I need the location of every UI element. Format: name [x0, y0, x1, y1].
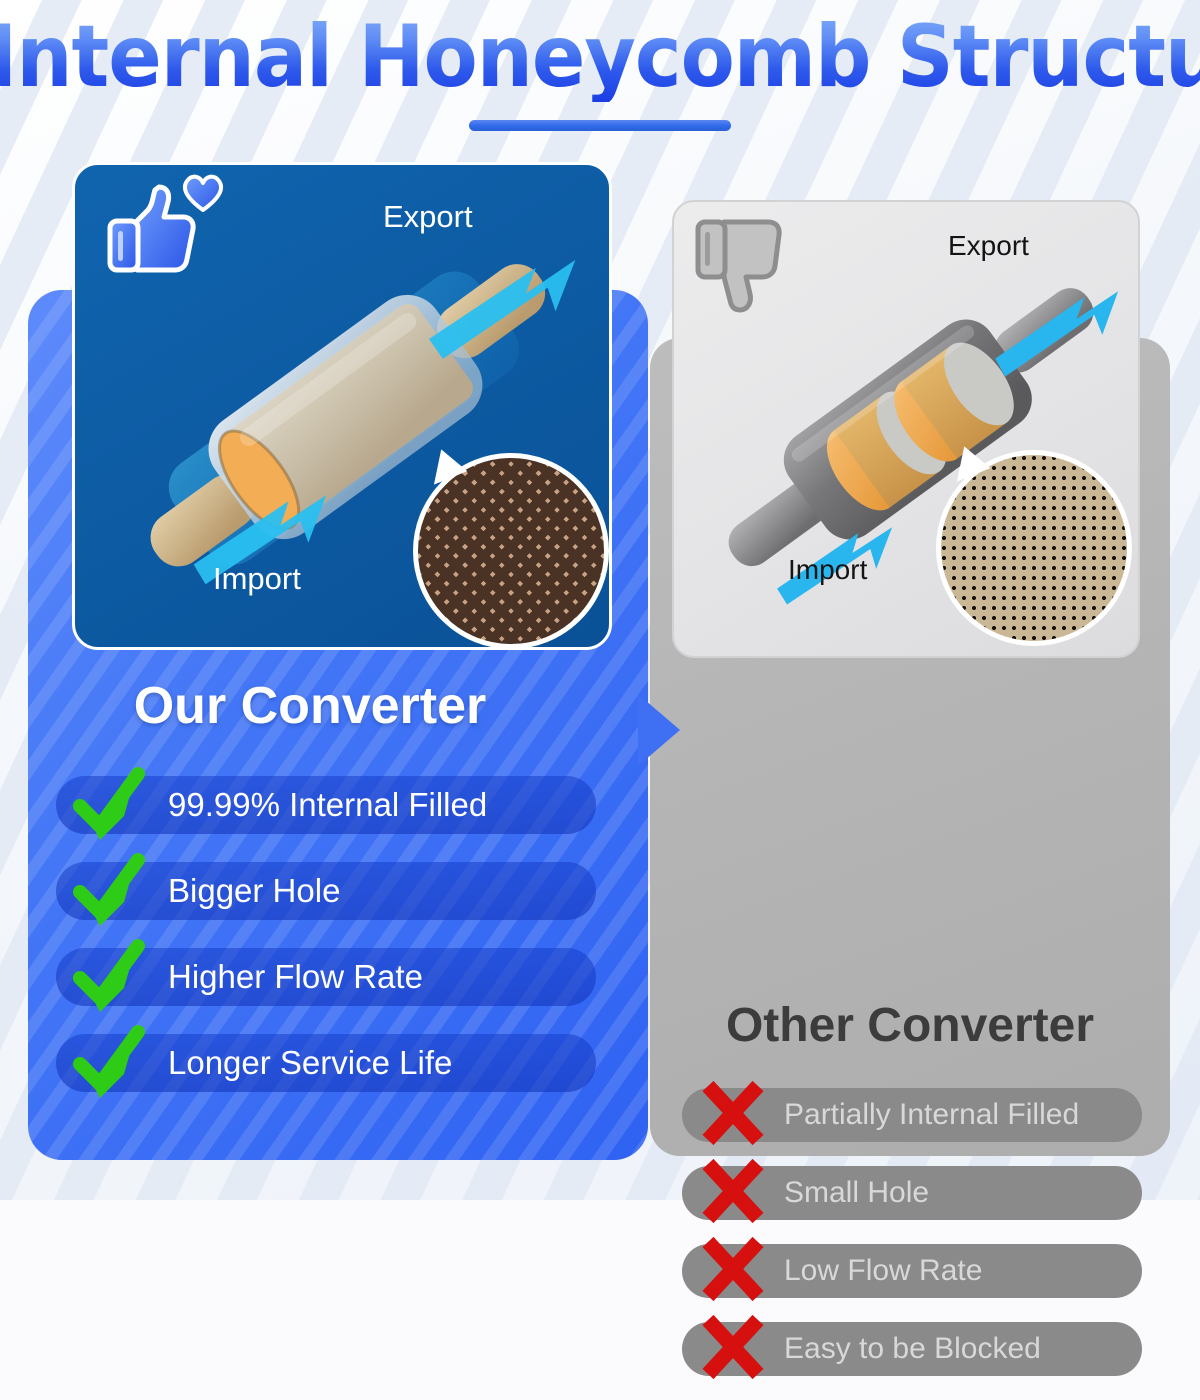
feature-list-ours: 99.99% Internal Filled Bigger Hole Highe…: [56, 776, 596, 1120]
label-export: Export: [948, 230, 1029, 262]
list-item[interactable]: Small Hole: [682, 1166, 1142, 1220]
list-item[interactable]: Easy to be Blocked: [682, 1322, 1142, 1376]
label-import: Import: [788, 554, 867, 586]
thumbs-down-icon: [690, 216, 786, 316]
other-converter-image-card: Export Import: [672, 200, 1140, 658]
page-title: Internal Honeycomb Structure: [0, 14, 1200, 102]
list-item[interactable]: Bigger Hole: [56, 862, 596, 920]
heading-our-converter: Our Converter: [0, 676, 620, 736]
cross-icon: [696, 1156, 770, 1230]
label-import: Import: [213, 561, 301, 597]
heading-other-converter: Other Converter: [650, 998, 1170, 1053]
list-item[interactable]: Low Flow Rate: [682, 1244, 1142, 1298]
list-item[interactable]: 99.99% Internal Filled: [56, 776, 596, 834]
list-item[interactable]: Longer Service Life: [56, 1034, 596, 1092]
heart-icon: [179, 169, 227, 213]
panel-pointer-arrow-icon: [638, 694, 680, 766]
check-icon: [70, 938, 148, 1016]
cross-icon: [696, 1078, 770, 1152]
list-item[interactable]: Partially Internal Filled: [682, 1088, 1142, 1142]
feature-list-other: Partially Internal Filled Small Hole Low…: [682, 1088, 1142, 1400]
cross-icon: [696, 1234, 770, 1308]
honeycomb-magnifier-other: [936, 450, 1132, 646]
check-icon: [70, 852, 148, 930]
cross-icon: [696, 1312, 770, 1386]
our-converter-image-card: Export Import: [72, 162, 612, 650]
header: Internal Honeycomb Structure: [0, 14, 1200, 131]
list-item[interactable]: Higher Flow Rate: [56, 948, 596, 1006]
honeycomb-magnifier-ours: [413, 453, 609, 649]
label-export: Export: [383, 199, 473, 235]
title-underline: [469, 120, 731, 131]
check-icon: [70, 1024, 148, 1102]
check-icon: [70, 766, 148, 844]
